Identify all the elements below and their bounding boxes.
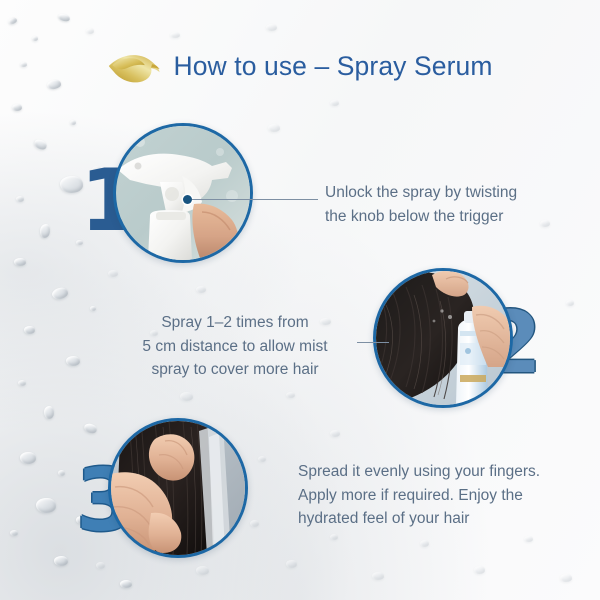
header: How to use – Spray Serum [0,46,600,86]
step-2-caption: Spray 1–2 times from 5 cm distance to al… [110,311,360,382]
step-3-caption: Spread it evenly using your fingers. App… [298,460,548,531]
step-2-photo [373,268,513,408]
infographic-poster: How to use – Spray Serum 1 [0,0,600,600]
step-2-connector-line [357,342,389,343]
page-title: How to use – Spray Serum [173,53,492,80]
dove-bird-icon [107,46,161,86]
step-1-caption: Unlock the spray by twisting the knob be… [325,181,555,228]
step-3-photo [108,418,248,558]
step-1-connector-line [192,199,318,200]
step-1-photo [113,123,253,263]
step-1-connector-dot [183,195,192,204]
